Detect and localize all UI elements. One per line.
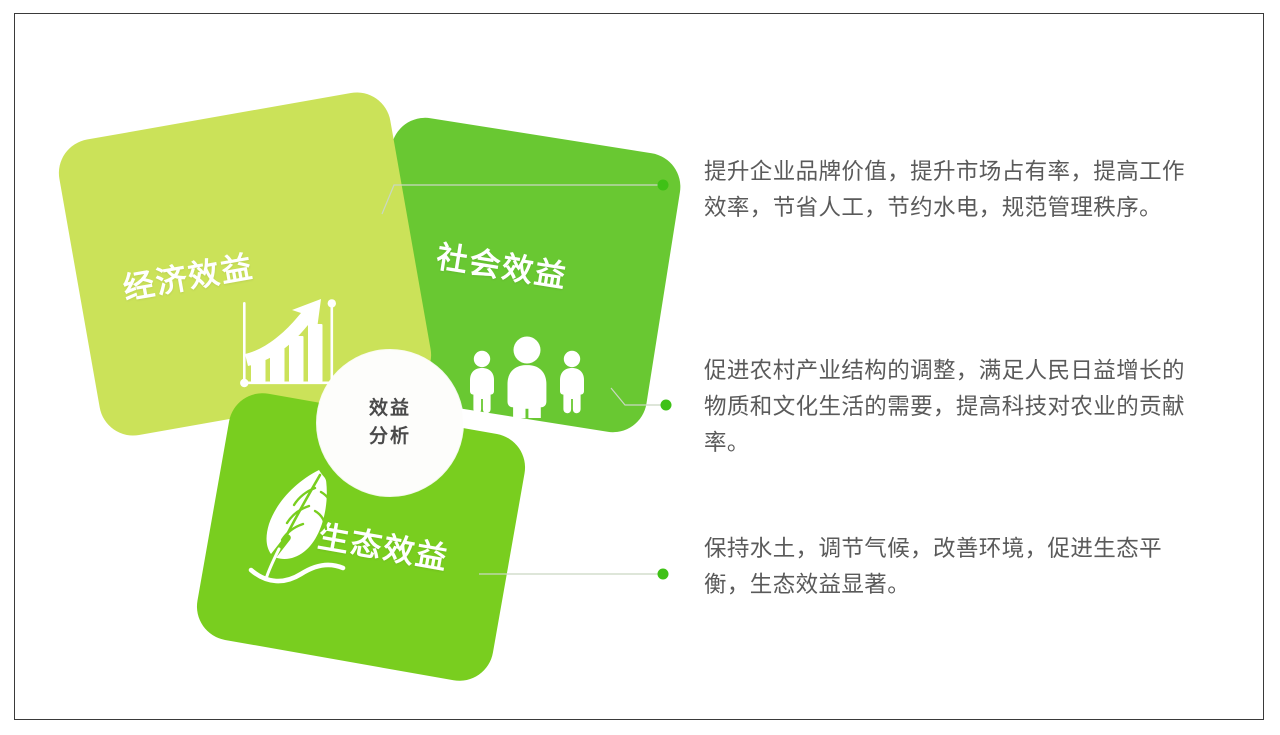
diagram-stage: 经济效益 社会效益 生态效益 bbox=[15, 14, 1264, 720]
connector-line-economic bbox=[382, 185, 663, 214]
center-hub-line-2: 分析 bbox=[369, 423, 411, 451]
connector-layer bbox=[15, 14, 1264, 720]
connector-line-social bbox=[611, 388, 666, 405]
connector-dot-economic bbox=[658, 180, 669, 191]
center-hub[interactable]: 效益 分析 bbox=[317, 350, 463, 496]
center-hub-line-1: 效益 bbox=[369, 395, 411, 423]
connector-dot-social bbox=[661, 400, 672, 411]
slide-canvas: 经济效益 社会效益 生态效益 bbox=[14, 13, 1264, 720]
connector-dot-ecological bbox=[658, 569, 669, 580]
